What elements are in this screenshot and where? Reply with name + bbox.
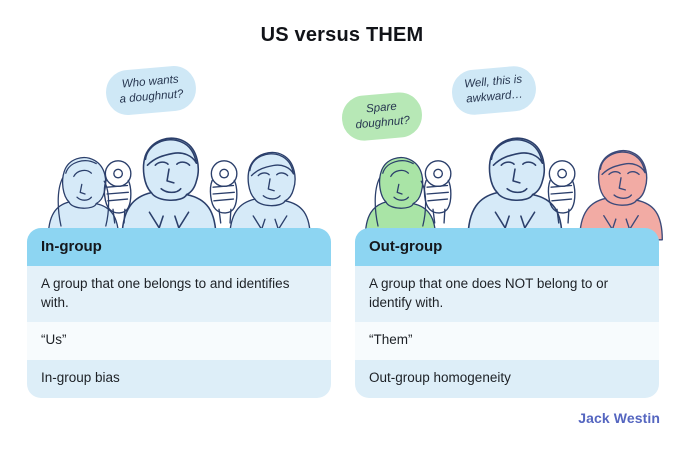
- doughnut-hand-icon: [210, 161, 236, 223]
- figure-in-group-woman: [48, 158, 118, 239]
- infographic-canvas: US versus THEM: [0, 0, 684, 458]
- card-header-out-group: Out-group: [355, 228, 659, 266]
- speech-bubble-who-wants-a-doughnut: Who wants a doughnut?: [104, 64, 198, 117]
- definition-card-out-group: Out-group A group that one does NOT belo…: [355, 228, 659, 398]
- card-row-related-concept: In-group bias: [27, 360, 331, 398]
- figure-in-group-man-right: [230, 152, 311, 239]
- figure-in-group-man-center: [122, 138, 216, 239]
- card-row-definition: A group that one belongs to and identifi…: [27, 266, 331, 322]
- card-row-pronoun: “Them”: [355, 322, 659, 360]
- brand-logo-text: Jack Westin: [578, 410, 660, 426]
- figure-group-out-group: [365, 138, 662, 240]
- page-title: US versus THEM: [0, 24, 684, 47]
- definition-card-in-group: In-group A group that one belongs to and…: [27, 228, 331, 398]
- card-row-definition: A group that one does NOT belong to or i…: [355, 266, 659, 322]
- card-row-related-concept: Out-group homogeneity: [355, 360, 659, 398]
- figure-out-group-man-pink: [580, 151, 663, 240]
- card-header-in-group: In-group: [27, 228, 331, 266]
- card-row-pronoun: “Us”: [27, 322, 331, 360]
- speech-bubble-well-this-is-awkward: Well, this is awkward…: [450, 64, 538, 116]
- figure-group-in-group: [48, 138, 310, 239]
